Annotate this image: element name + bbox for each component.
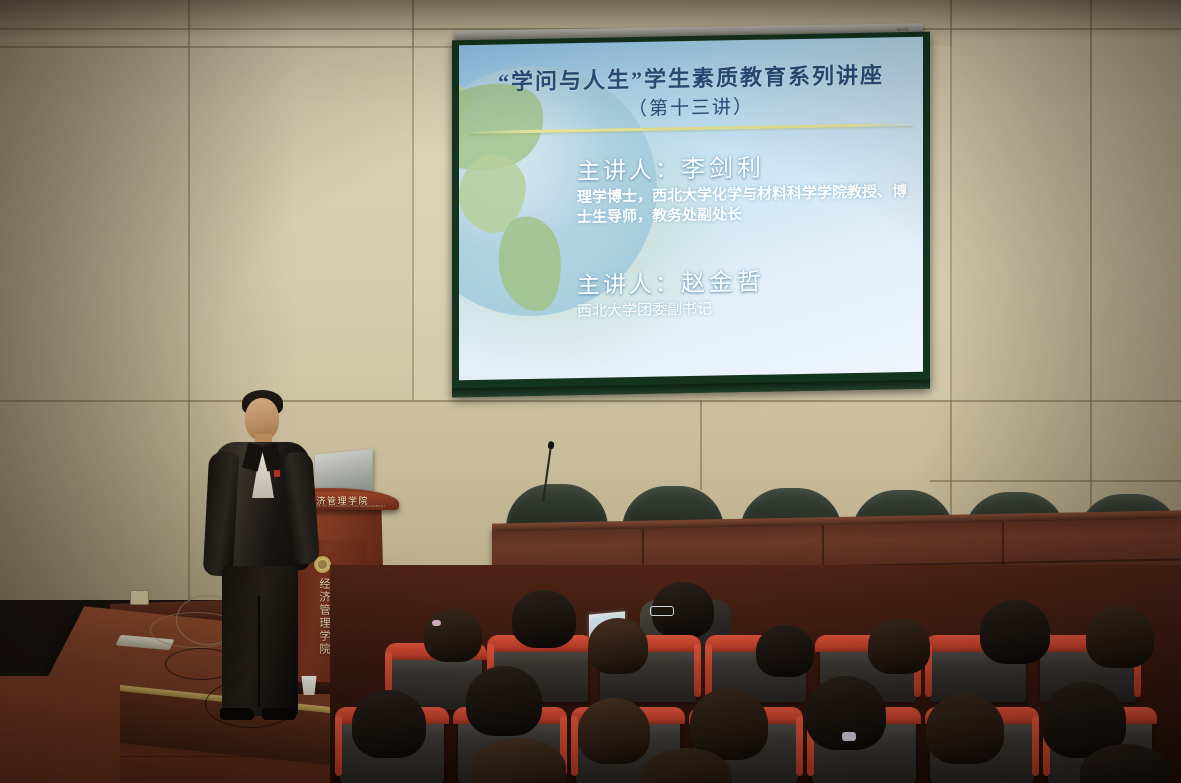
speaker-name: 赵金哲 [681, 270, 765, 298]
speaker-heading: 主讲人：李剑利 [577, 145, 913, 186]
projection-screen: “学问与人生”学生素质教育系列讲座 （第十三讲） 主讲人：李剑利 理学博士，西北… [452, 32, 930, 398]
hair-clip-icon [432, 620, 441, 626]
audience-member-head [466, 666, 542, 736]
slide-speaker-block: 主讲人：赵金哲 西北大学团委副书记 [577, 259, 913, 322]
lecture-hall-photo: BenQ “学问与人生”学生素质教育系列讲座 （第十三讲） 主讲人：李剑利 理学… [0, 0, 1181, 783]
glasses-icon [650, 606, 674, 616]
audience-member-head [512, 590, 576, 648]
slide-speaker-block: 主讲人：李剑利 理学博士，西北大学化学与材料科学学院教授、博士生导师，教务处副处… [577, 145, 913, 229]
presenter-badge [274, 470, 280, 477]
wall-seam [700, 400, 702, 490]
speaker-label: 主讲人： [577, 157, 681, 184]
audience-member-head [868, 618, 930, 674]
audience-member-head [806, 676, 886, 750]
audience-member-head [926, 694, 1004, 764]
hair-clip-icon [842, 732, 856, 741]
presentation-slide: “学问与人生”学生素质教育系列讲座 （第十三讲） 主讲人：李剑利 理学博士，西北… [459, 37, 923, 381]
laptop-icon [315, 449, 373, 492]
speaker-description: 理学博士，西北大学化学与材料科学学院教授、博士生导师，教务处副处长 [577, 182, 913, 229]
audience-member-head [980, 600, 1050, 664]
speaker-name: 李剑利 [681, 156, 765, 184]
projector-brand-label: BenQ [897, 27, 909, 32]
speaker-heading: 主讲人：赵金哲 [577, 259, 913, 300]
audience-member-head [1086, 606, 1154, 668]
audience-member-head [578, 698, 650, 764]
audience-member-head [352, 690, 426, 758]
audience-member-head [756, 625, 814, 677]
audience-member-head [424, 608, 482, 662]
speaker-description: 西北大学团委副书记 [577, 296, 913, 322]
speaker-label: 主讲人： [577, 271, 681, 298]
audience-member-head [588, 618, 648, 674]
wall-seam [412, 0, 414, 400]
